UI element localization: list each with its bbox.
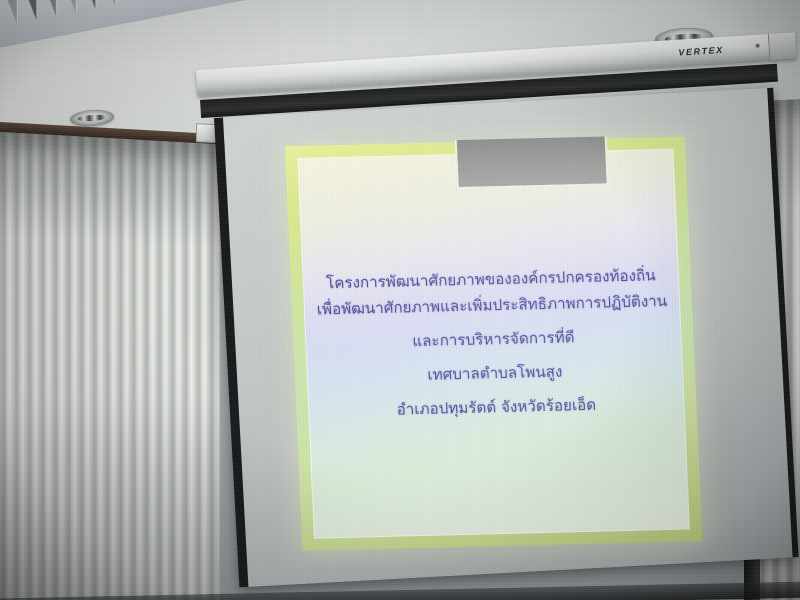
slide-content-area: โครงการพัฒนาศักยภาพขององค์กรปกครองท้องถิ… [297,149,690,539]
screen-brand-label: VERTEX [678,45,724,58]
slide-line-5: อำเภอปทุมรัตต์ จังหวัดร้อยเอ็ด [309,390,684,425]
housing-screw [755,44,759,48]
projection-screen-surface[interactable]: โครงการพัฒนาศักยภาพขององค์กรปกครองท้องถิ… [214,88,799,588]
slide-title-text: โครงการพัฒนาศักยภาพขององค์กรปกครองท้องถิ… [303,262,684,425]
projected-slide: โครงการพัฒนาศักยภาพขององค์กรปกครองท้องถิ… [285,137,703,551]
curtain-left [0,132,220,600]
slide-occluded-notch [455,136,609,189]
photo-scene: VERTEX รุ่น VR-72x96 vertexscreen โครงกา… [0,0,800,600]
slide-line-3: และการบริหารจัดการที่ดี [306,322,681,357]
housing-endcap [768,32,797,60]
curtain-shading [0,132,220,600]
slide-line-4: เทศบาลตำบลโพนสูง [307,356,682,391]
lamp-glow [78,114,106,122]
